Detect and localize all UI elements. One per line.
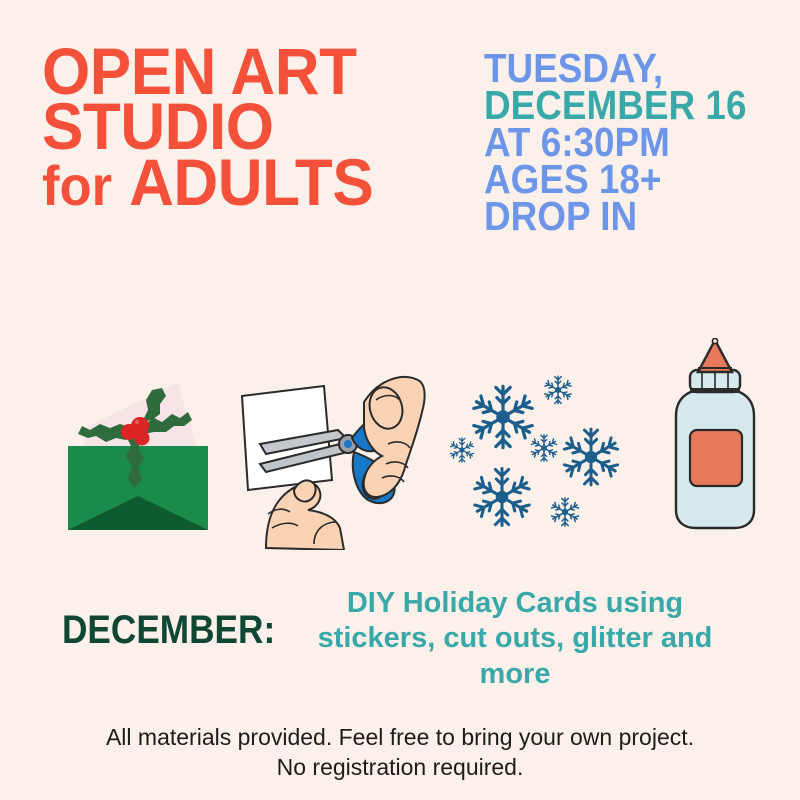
page-title: OPEN ART STUDIO forADULTS [42,44,462,210]
glue-bottle-icon [660,338,770,538]
snowflake-small-left [451,438,474,462]
illustration-row [0,330,800,555]
event-registration-type: DROP IN [484,198,763,235]
snowflake-small-middle [531,435,556,461]
snowflake-small-top [545,376,571,404]
headline-line-3: forADULTS [42,155,437,210]
footer-line-2: No registration required. [40,752,760,782]
snowflake-large-bottom-left [475,469,529,526]
snowflake-small-bottom [552,498,579,526]
scissors-cutting-paper-icon [236,372,426,550]
poster-canvas: OPEN ART STUDIO forADULTS TUESDAY, DECEM… [0,0,800,800]
program-description: DIY Holiday Cards using stickers, cut ou… [300,586,730,692]
footer-line-1: All materials provided. Feel free to bri… [40,722,760,752]
event-details-block: TUESDAY, DECEMBER 16 AT 6:30PM AGES 18+ … [484,50,794,234]
snowflake-cluster-icon [450,360,630,535]
footer-note: All materials provided. Feel free to bri… [40,722,760,783]
envelope-with-holly-icon [58,368,218,538]
snowflake-large-right [564,429,617,485]
headline-for-word: for [42,154,112,217]
snowflake-large-top-left [474,386,532,447]
headline-adults-word: ADULTS [129,145,373,219]
month-label: DECEMBER: [62,608,275,653]
